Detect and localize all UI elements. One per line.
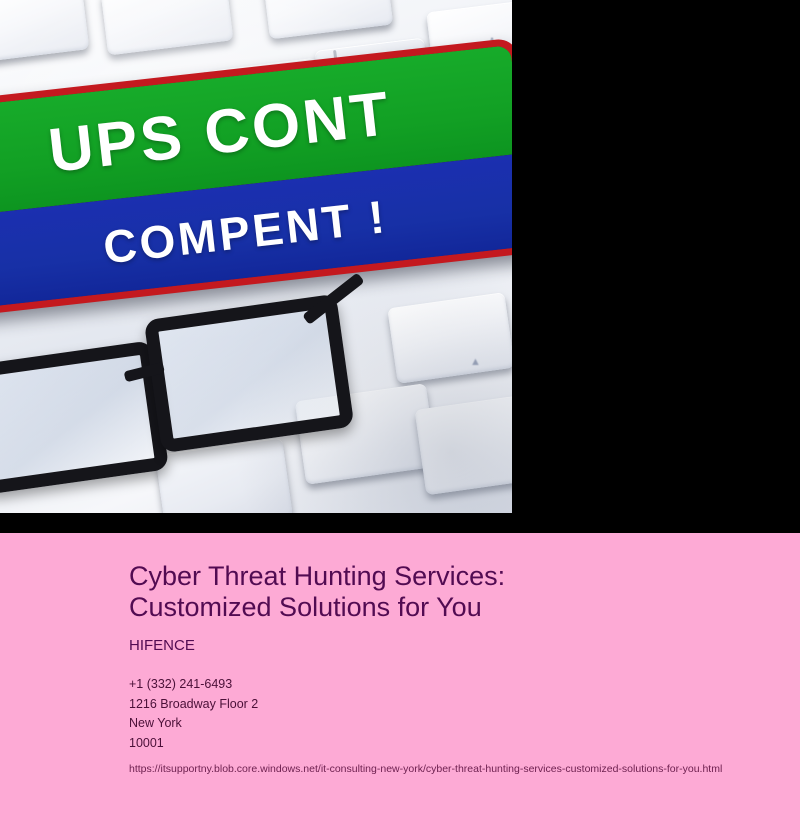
page-title: Cyber Threat Hunting Services: Customize…	[129, 561, 780, 623]
contact-phone: +1 (332) 241-6493	[129, 675, 780, 695]
contact-street: 1216 Broadway Floor 2	[129, 695, 780, 715]
brand-name: HIFENCE	[129, 637, 780, 654]
contact-city: New York	[129, 714, 780, 734]
sign-blue-text: COMPENT !	[101, 189, 390, 274]
contact-block: +1 (332) 241-6493 1216 Broadway Floor 2 …	[129, 675, 780, 753]
source-url-link[interactable]: https://itsupportny.blob.core.windows.ne…	[129, 762, 780, 776]
keyboard-photo: ▢ ▣ ☐ ∧ ▲ ■ UPS CONT COMPENT !	[0, 0, 512, 513]
sign-green-text: UPS CONT	[45, 78, 395, 187]
contact-zip: 10001	[129, 734, 780, 754]
info-panel: Cyber Threat Hunting Services: Customize…	[0, 533, 800, 840]
media-band: ▢ ▣ ☐ ∧ ▲ ■ UPS CONT COMPENT !	[0, 0, 800, 533]
info-content: Cyber Threat Hunting Services: Customize…	[129, 561, 780, 776]
